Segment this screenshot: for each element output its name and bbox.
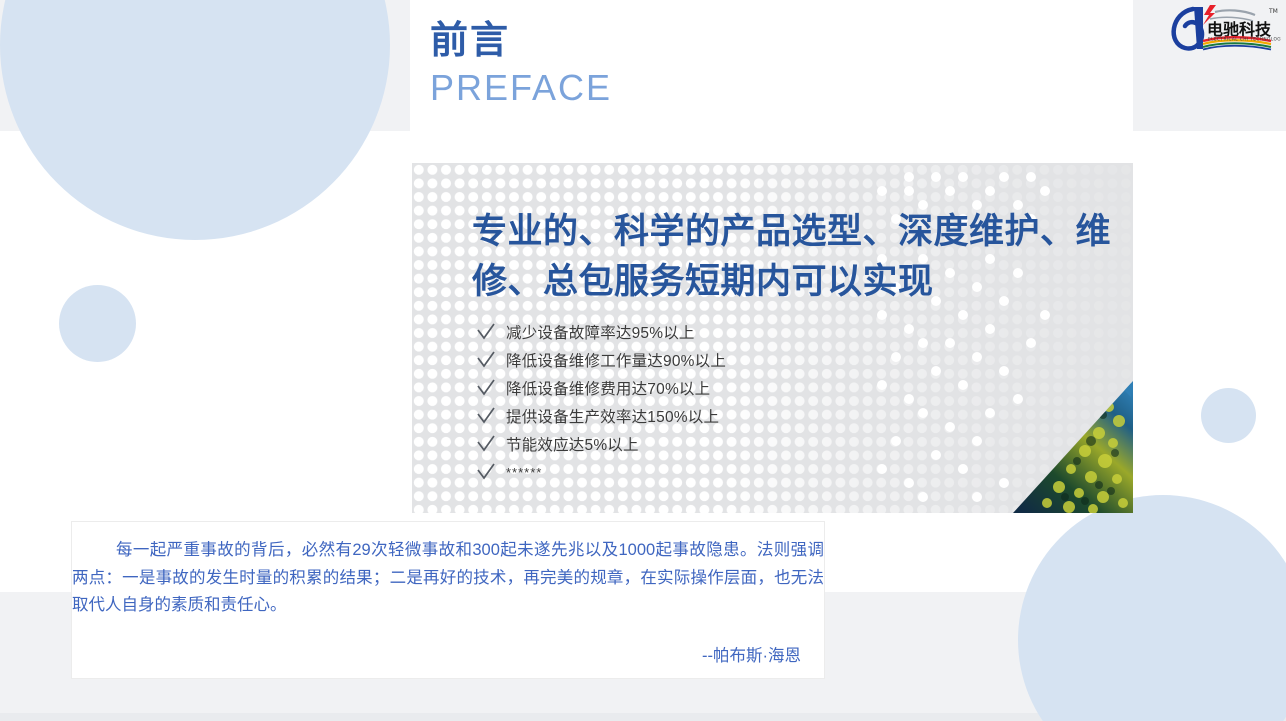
check-icon [476, 323, 506, 341]
list-item-label: 减少设备故障率达95%以上 [506, 321, 695, 343]
svg-text:ELECTRICAL CHI TECHNOLOGY: ELECTRICAL CHI TECHNOLOGY [1208, 37, 1281, 43]
page-title-english: PREFACE [430, 70, 612, 106]
list-item: 节能效应达5%以上 [476, 430, 996, 458]
decorative-circle-small-left [59, 285, 136, 362]
list-item: ****** [476, 458, 996, 486]
forest-photo-image [1013, 381, 1133, 513]
slide-canvas: 前言 PREFACE 电驰科技 ELECTRICAL CHI TECHNOLOG… [0, 0, 1286, 721]
check-icon [476, 463, 506, 481]
check-icon [476, 379, 506, 397]
content-heading: 专业的、科学的产品选型、深度维护、维修、总包服务短期内可以实现 [472, 207, 1133, 306]
list-item-label: 降低设备维修工作量达90%以上 [506, 349, 726, 371]
page-title-chinese: 前言 [430, 22, 510, 60]
slide-header: 前言 PREFACE [410, 0, 1133, 131]
quote-card: 每一起严重事故的背后，必然有29次轻微事故和300起未遂先兆以及1000起事故隐… [71, 521, 825, 679]
quote-attribution: --帕布斯·海恩 [702, 642, 801, 666]
list-item: 降低设备维修费用达70%以上 [476, 374, 996, 402]
svg-text:TM: TM [1268, 8, 1278, 15]
benefits-list: 减少设备故障率达95%以上 降低设备维修工作量达90%以上 降低设备维修费用达7… [476, 318, 996, 486]
content-panel: 专业的、科学的产品选型、深度维护、维修、总包服务短期内可以实现 减少设备故障率达… [412, 163, 1133, 513]
list-item: 降低设备维修工作量达90%以上 [476, 346, 996, 374]
quote-text: 每一起严重事故的背后，必然有29次轻微事故和300起未遂先兆以及1000起事故隐… [72, 537, 824, 620]
decorative-circle-top-left [0, 0, 390, 240]
list-item-label: ****** [506, 465, 542, 480]
list-item: 减少设备故障率达95%以上 [476, 318, 996, 346]
check-icon [476, 407, 506, 425]
company-logo: 电驰科技 ELECTRICAL CHI TECHNOLOGY TM [1163, 3, 1281, 53]
logo-graphic: 电驰科技 ELECTRICAL CHI TECHNOLOGY TM [1163, 3, 1281, 53]
list-item-label: 降低设备维修费用达70%以上 [506, 377, 710, 399]
list-item-label: 节能效应达5%以上 [506, 433, 639, 455]
decorative-circle-small-right [1201, 388, 1256, 443]
check-icon [476, 435, 506, 453]
list-item-label: 提供设备生产效率达150%以上 [506, 405, 719, 427]
check-icon [476, 351, 506, 369]
decorative-circle-bottom-right [1018, 495, 1286, 721]
list-item: 提供设备生产效率达150%以上 [476, 402, 996, 430]
forest-photo-corner [1013, 381, 1133, 513]
